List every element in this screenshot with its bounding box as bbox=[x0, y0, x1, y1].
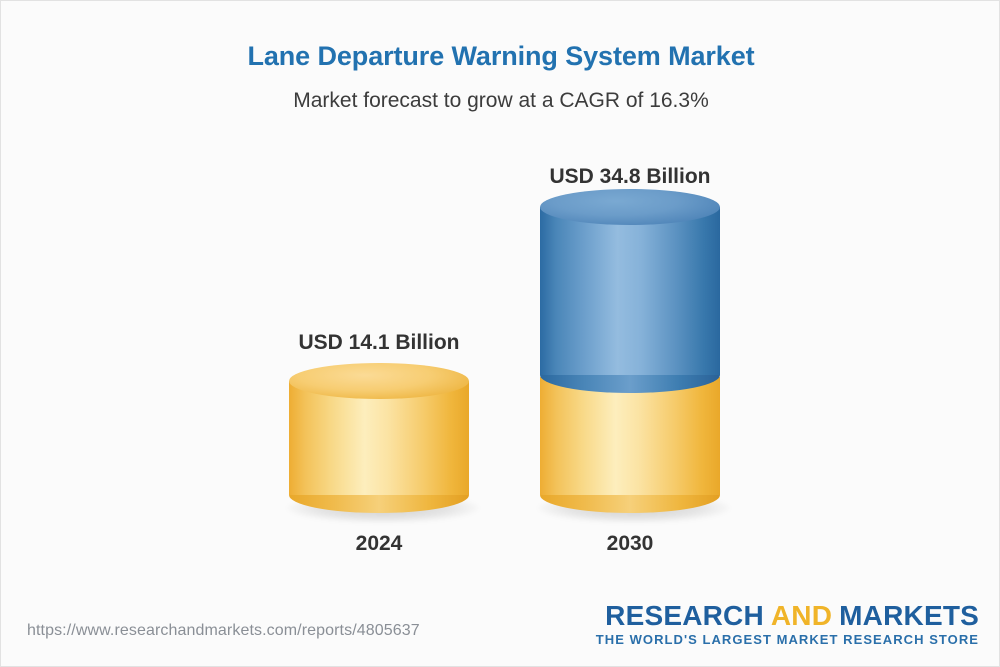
brand-logo-word-markets: MARKETS bbox=[839, 600, 979, 631]
brand-logo[interactable]: RESEARCHANDMARKETS THE WORLD'S LARGEST M… bbox=[596, 601, 979, 647]
brand-logo-word-and: AND bbox=[771, 600, 832, 631]
brand-logo-wordmark: RESEARCHANDMARKETS bbox=[596, 601, 979, 630]
report-url[interactable]: https://www.researchandmarkets.com/repor… bbox=[27, 622, 420, 640]
brand-logo-tagline: THE WORLD'S LARGEST MARKET RESEARCH STOR… bbox=[596, 632, 979, 647]
bar-segment-2030-base-body bbox=[540, 377, 720, 495]
brand-logo-word-research: RESEARCH bbox=[605, 600, 764, 631]
bar-segment-2030-growth bbox=[540, 189, 720, 393]
value-label-2024: USD 14.1 Billion bbox=[239, 331, 519, 355]
bar-segment-2024-base-top bbox=[289, 363, 469, 399]
bar-segment-2024-base bbox=[289, 363, 469, 513]
category-label-2030: 2030 bbox=[490, 532, 770, 556]
bar-segment-2030-growth-top bbox=[540, 189, 720, 225]
chart-canvas: Lane Departure Warning System Market Mar… bbox=[0, 0, 1000, 667]
plot-area: USD 14.1 Billion 2024 USD 34.8 Billion bbox=[1, 1, 1000, 601]
category-label-2024: 2024 bbox=[239, 532, 519, 556]
bar-segment-2030-growth-body bbox=[540, 207, 720, 375]
value-label-2030: USD 34.8 Billion bbox=[490, 165, 770, 189]
bar-segment-2030-base bbox=[540, 377, 720, 513]
